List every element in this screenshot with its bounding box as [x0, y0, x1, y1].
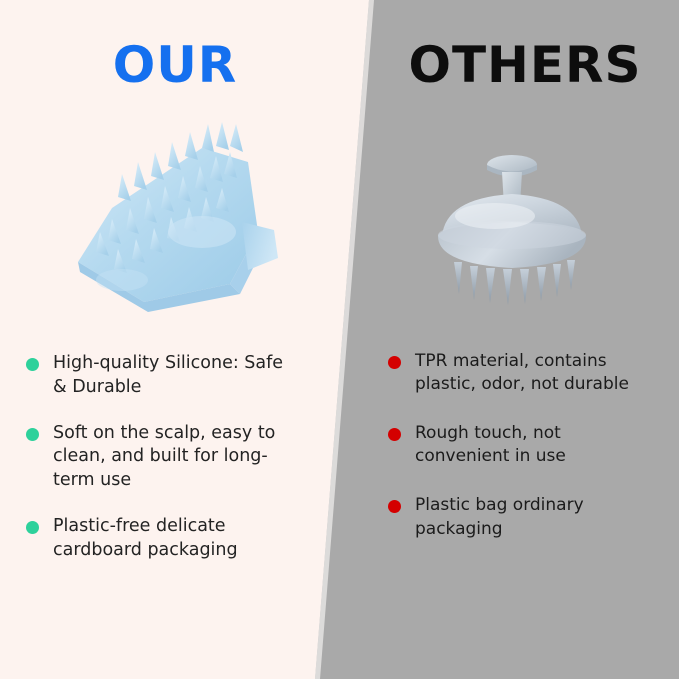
list-item: Soft on the scalp, easy to clean, and bu… — [26, 422, 294, 493]
our-heading: OUR — [0, 36, 350, 94]
others-drawbacks-list: TPR material, contains plastic, odor, no… — [388, 350, 650, 567]
list-item: High-quality Silicone: Safe & Durable — [26, 352, 294, 400]
list-item: Rough touch, not convenient in use — [388, 422, 650, 468]
list-item-label: Rough touch, not convenient in use — [415, 422, 650, 468]
list-item-label: High-quality Silicone: Safe & Durable — [53, 352, 294, 400]
con-bullet-icon — [388, 428, 401, 441]
our-benefits-list: High-quality Silicone: Safe & Durable So… — [26, 352, 294, 585]
pro-bullet-icon — [26, 428, 39, 441]
con-bullet-icon — [388, 500, 401, 513]
con-bullet-icon — [388, 356, 401, 369]
pro-bullet-icon — [26, 521, 39, 534]
others-heading: OTHERS — [380, 36, 670, 94]
list-item-label: Plastic bag ordinary packaging — [415, 494, 650, 540]
pro-bullet-icon — [26, 358, 39, 371]
list-item: Plastic bag ordinary packaging — [388, 494, 650, 540]
list-item: TPR material, contains plastic, odor, no… — [388, 350, 650, 396]
list-item: Plastic-free delicate cardboard packagin… — [26, 515, 294, 563]
comparison-infographic: OUR OTHERS — [0, 0, 679, 679]
list-item-label: Plastic-free delicate cardboard packagin… — [53, 515, 294, 563]
others-product-image — [420, 128, 605, 313]
our-product-image — [52, 112, 297, 317]
list-item-label: TPR material, contains plastic, odor, no… — [415, 350, 650, 396]
list-item-label: Soft on the scalp, easy to clean, and bu… — [53, 422, 294, 493]
